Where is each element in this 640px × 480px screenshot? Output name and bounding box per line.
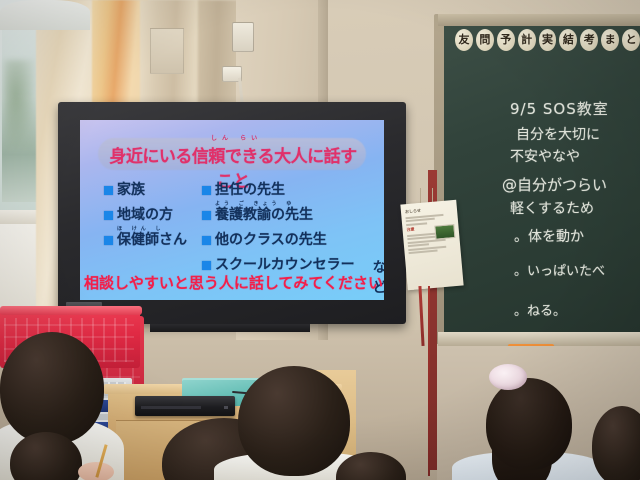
bullet-square-icon: [202, 261, 211, 270]
bullet-furigana: ほ けん し: [117, 227, 164, 232]
chalk-line-7: 。いっぱいたべ: [514, 260, 605, 279]
blackboard-top-rail: [438, 14, 640, 26]
bullet-label: 担任の先生: [215, 182, 285, 198]
student-head: [0, 332, 104, 444]
light-switch-plate[interactable]: [232, 22, 254, 52]
chalk-line-1: 9/5 SOS教室: [510, 98, 609, 119]
blackboard-badge: 問: [476, 29, 494, 51]
bullet-label: 養護教諭の先生: [215, 207, 313, 223]
student-head: [486, 378, 572, 470]
bullet-furigana: よう ご きょう ゆ: [215, 202, 295, 207]
blackboard-badge: ま: [601, 29, 619, 51]
blackboard: 9/5 SOS教室 自分を大切に 不安やなや @自分がつらい 軽くするため 。体…: [444, 22, 640, 332]
display-screen[interactable]: しん らい 身近にいる信頼できる大人に話すこと 家族 地域の方 ほ けん し 保…: [80, 120, 384, 300]
chalk-line-6: 。体を動か: [514, 226, 584, 246]
chalk-line-5: 軽くするため: [510, 198, 594, 218]
list-item: ほ けん し 保健師さん: [104, 232, 214, 248]
student-head: [238, 366, 350, 476]
list-item: 担任の先生: [202, 182, 382, 198]
bullet-square-icon: [104, 211, 113, 220]
notice-text-line: [409, 250, 438, 255]
hair-scrunchie: [489, 364, 527, 390]
blackboard-chalk-text: 9/5 SOS教室 自分を大切に 不安やなや @自分がつらい 軽くするため 。体…: [444, 22, 640, 332]
slide-footer-message: 相談しやすいと思う人に話してみてください: [84, 272, 380, 293]
blackboard-badge: 予: [497, 29, 515, 51]
bullet-square-icon: [202, 186, 211, 195]
blackboard-badge: 計: [518, 29, 536, 51]
chalk-line-4: @自分がつらい: [502, 174, 607, 195]
blackboard-badge: 友: [455, 29, 473, 51]
bullet-label: 家族: [117, 182, 145, 198]
slide-title-furigana: しん らい: [211, 133, 262, 142]
notice-illustration: [434, 224, 455, 240]
bullet-label: スクールカウンセラー: [215, 257, 355, 273]
bullet-label: 他のクラスの先生: [215, 232, 327, 248]
list-item: よう ご きょう ゆ 養護教諭の先生: [202, 207, 382, 223]
blackboard-badge-row: 友 問 予 計 実 結 考 ま と: [455, 29, 640, 53]
bullet-square-icon: [104, 186, 113, 195]
notice-hook-left: [420, 188, 421, 204]
bullet-square-icon: [202, 236, 211, 245]
student-shirt: [0, 0, 90, 30]
wall-panel: [150, 28, 184, 74]
student-far-right: [0, 0, 90, 30]
dvd-player-slot: [141, 406, 201, 409]
blackboard-badge: と: [622, 29, 640, 51]
bullet-square-icon: [104, 236, 113, 245]
classroom-photo: 9/5 SOS教室 自分を大切に 不安やなや @自分がつらい 軽くするため 。体…: [0, 0, 640, 480]
blackboard-badge: 考: [580, 29, 598, 51]
list-item: 家族: [104, 182, 214, 198]
chalk-line-2: 自分を大切に: [516, 124, 600, 144]
window-foliage: [4, 60, 34, 150]
bullet-label: 保健師さん: [117, 232, 187, 248]
chalk-line-3: 不安やなや: [510, 146, 580, 166]
blackboard-badge: 結: [559, 29, 577, 51]
bullet-square-icon: [202, 211, 211, 220]
blackboard-badge: 実: [539, 29, 557, 51]
storage-basket-rim: [0, 306, 142, 315]
presentation-slide: しん らい 身近にいる信頼できる大人に話すこと 家族 地域の方 ほ けん し 保…: [80, 120, 384, 300]
list-item: 地域の方: [104, 207, 214, 223]
dvd-player-indicator: [224, 406, 228, 409]
list-item: 他のクラスの先生: [202, 232, 382, 248]
chalk-line-8: 。ねる。: [514, 300, 566, 319]
notice-cord-lower: [428, 286, 430, 476]
hanging-notice[interactable]: おしらせ 注意: [400, 200, 463, 291]
slide-bullet-column-left: 家族 地域の方 ほ けん し 保健師さん: [104, 182, 214, 257]
display-stand: [150, 324, 310, 332]
bullet-label: 地域の方: [117, 207, 173, 223]
